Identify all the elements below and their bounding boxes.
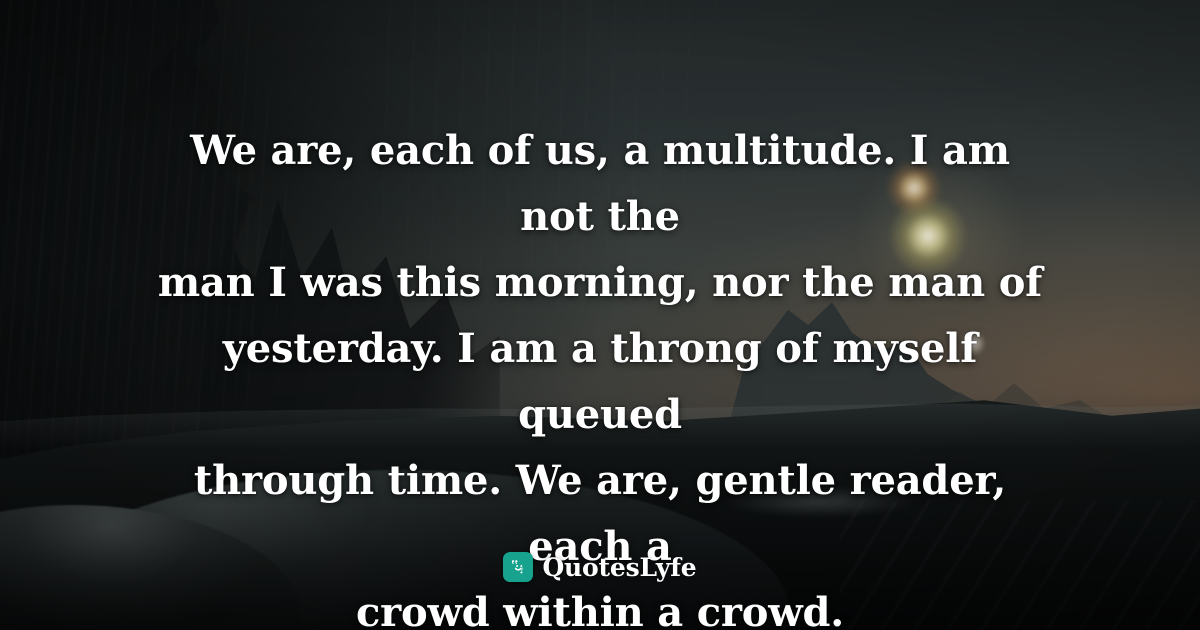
quote-line: yesterday. I am a throng of myself queue… xyxy=(150,316,1050,448)
quote-content: We are, each of us, a multitude. I am no… xyxy=(0,0,1200,630)
quote-marks-icon xyxy=(503,552,533,582)
brand-logo[interactable]: QuotesLyfe xyxy=(0,552,1200,582)
brand-name: QuotesLyfe xyxy=(542,553,696,582)
quote-line: crowd within a crowd. xyxy=(150,580,1050,630)
quote-card: We are, each of us, a multitude. I am no… xyxy=(0,0,1200,630)
quote-line: We are, each of us, a multitude. I am no… xyxy=(150,118,1050,250)
quote-line: man I was this morning, nor the man of xyxy=(150,250,1050,316)
